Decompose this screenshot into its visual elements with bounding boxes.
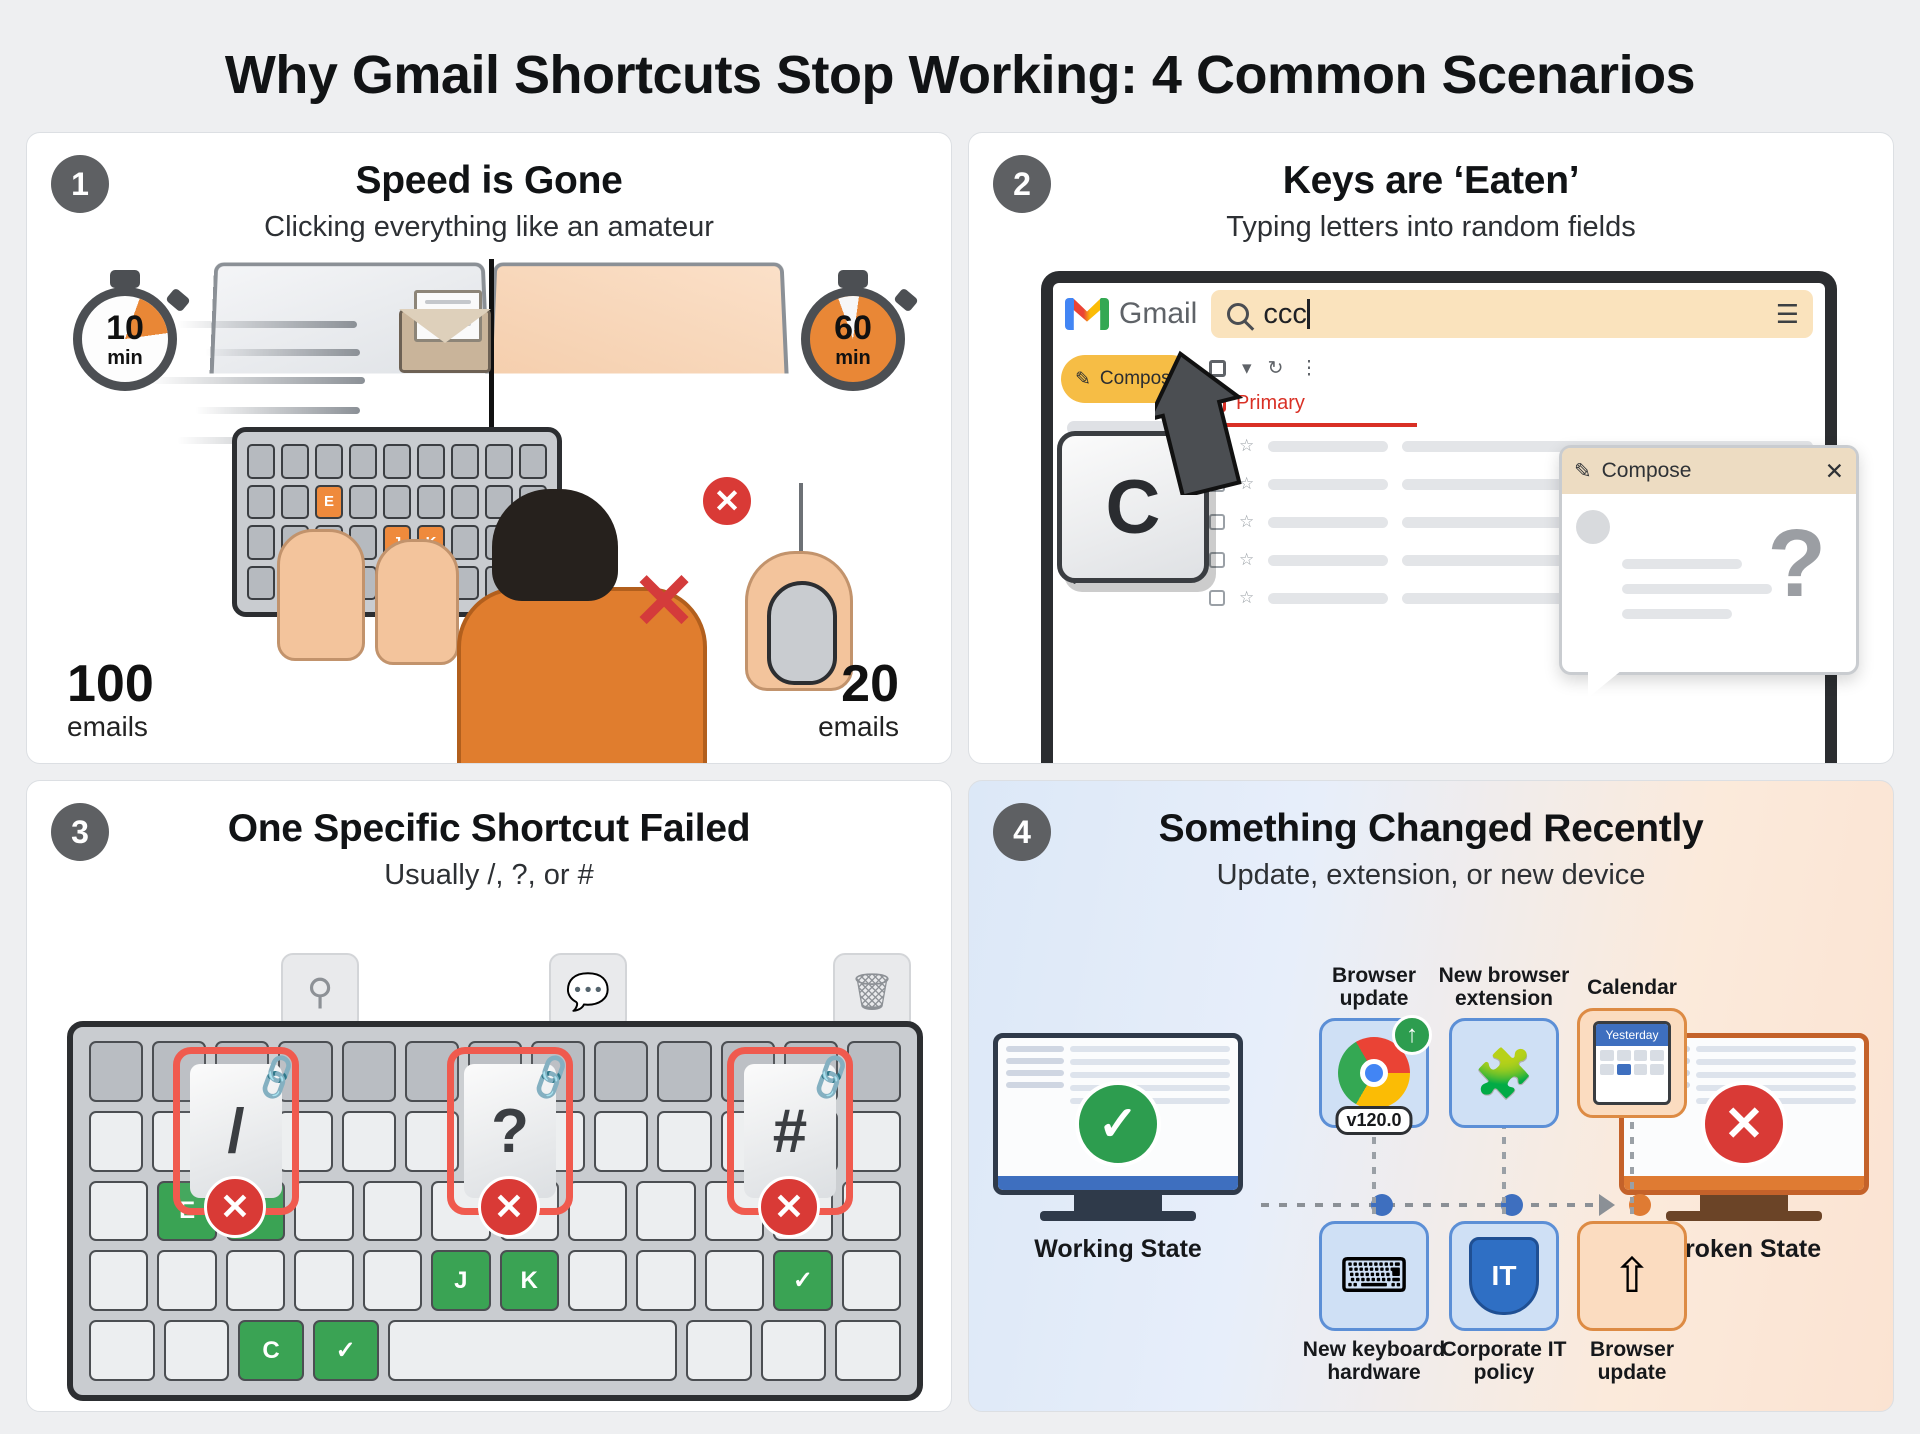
panel-3-subtitle: Usually /, ?, or # [47, 859, 931, 892]
key-blank [519, 444, 547, 479]
key [342, 1041, 396, 1102]
x-icon: ✕ [1701, 1081, 1787, 1167]
placeholder-line [1622, 584, 1772, 594]
panel-1-number: 1 [51, 155, 109, 213]
cause-browser-update-bottom: ⇧ Browser update [1559, 1213, 1705, 1384]
close-icon[interactable]: ✕ [1825, 458, 1844, 485]
search-icon: ⚲ [281, 953, 359, 1031]
key-blank [383, 444, 411, 479]
stat-unit: emails [818, 712, 899, 741]
failed-key-hash: # 🔗 ✕ [727, 1047, 853, 1215]
panel-one-shortcut-failed: 3 One Specific Shortcut Failed Usually /… [26, 780, 952, 1412]
cause-label: Browser update [1301, 965, 1447, 1010]
stopwatch-unit: min [835, 348, 871, 368]
key [89, 1320, 155, 1381]
stat-emails-fast: 100 emails [67, 657, 154, 741]
key-blank [247, 485, 275, 520]
key [657, 1041, 711, 1102]
key [636, 1181, 695, 1242]
keyboard-row: J K ✓ [89, 1250, 901, 1311]
calendar-grid [1596, 1046, 1668, 1079]
pencil-icon: ✎ [1075, 368, 1091, 391]
working-state-group: ✓ Working State [993, 1033, 1243, 1264]
panel-1-title: Speed is Gone [47, 159, 931, 203]
placeholder-line [1622, 609, 1732, 619]
stopwatch-value: 60 [834, 311, 872, 345]
gmail-topbar: Gmail ccc ☰ [1053, 283, 1825, 345]
key-blank [451, 444, 479, 479]
key-blank [451, 485, 479, 520]
monitor-accent-bar [1624, 1176, 1864, 1190]
version-badge: v120.0 [1335, 1106, 1412, 1135]
row-sender [1268, 555, 1388, 566]
error-badge-icon: ✕ [699, 473, 755, 529]
cause-new-keyboard: ⌨ New keyboard hardware [1301, 1213, 1447, 1384]
gmail-toolbar: ▾ ↻ ⋮ [1207, 351, 1815, 386]
panel-2-illustration: Gmail ccc ☰ ✎ [969, 259, 1893, 763]
cause-new-extension: New browser extension 🧩 [1431, 965, 1577, 1128]
compose-popup-body: ? [1562, 494, 1856, 635]
key-blank [247, 566, 275, 601]
key [636, 1250, 695, 1311]
row-checkbox[interactable] [1209, 590, 1225, 606]
panel-grid: 1 Speed is Gone Clicking everything like… [26, 132, 1894, 1412]
compose-popup-header: ✎ Compose ✕ [1562, 448, 1856, 494]
key-blank [281, 485, 309, 520]
key [89, 1250, 148, 1311]
gmail-search-field[interactable]: ccc ☰ [1211, 290, 1813, 338]
cause-browser-update-top: Browser update ↑ v120.0 [1301, 965, 1447, 1128]
panel-4-subtitle: Update, extension, or new device [989, 859, 1873, 892]
key-c-working: C [238, 1320, 304, 1381]
puzzle-icon: 🧩 [1449, 1018, 1559, 1128]
compose-popup-title: Compose [1602, 459, 1692, 483]
avatar [1576, 510, 1610, 544]
panel-speed-is-gone: 1 Speed is Gone Clicking everything like… [26, 132, 952, 764]
key [294, 1250, 353, 1311]
envelope-flap [399, 309, 491, 373]
trash-icon: 🗑 [833, 953, 911, 1031]
speed-line [205, 349, 360, 356]
cause-label: Calendar [1559, 977, 1705, 1000]
gmail-brand-label: Gmail [1119, 297, 1197, 331]
chrome-icon: ↑ v120.0 [1319, 1018, 1429, 1128]
person-head [492, 489, 618, 601]
key [594, 1041, 648, 1102]
failed-key-question: ? 🔗 ✕ [447, 1047, 573, 1215]
key [761, 1320, 827, 1381]
row-checkbox[interactable] [1209, 514, 1225, 530]
tune-icon[interactable]: ☰ [1776, 299, 1797, 330]
panel-4-number: 4 [993, 803, 1051, 861]
panel-keys-are-eaten: 2 Keys are ‘Eaten’ Typing letters into r… [968, 132, 1894, 764]
star-icon[interactable]: ☆ [1239, 512, 1254, 532]
stopwatch-60min: 60 min [801, 287, 905, 391]
star-icon[interactable]: ☆ [1239, 550, 1254, 570]
panel-4-title: Something Changed Recently [989, 807, 1873, 851]
stat-emails-slow: 20 emails [818, 657, 899, 741]
hand-left [277, 529, 365, 661]
gmail-logo: Gmail [1065, 297, 1197, 331]
keyboard-icon: ⌨ [1319, 1221, 1429, 1331]
panel-something-changed: 4 Something Changed Recently Update, ext… [968, 780, 1894, 1412]
stopwatch-10min: 10 min [73, 287, 177, 391]
working-state-label: Working State [993, 1235, 1243, 1264]
panel-1-subtitle: Clicking everything like an amateur [47, 211, 931, 244]
speech-tail [1588, 670, 1622, 698]
key-blank [417, 485, 445, 520]
flow-track [1261, 1203, 1601, 1207]
key [342, 1111, 396, 1172]
stat-value: 100 [67, 657, 154, 712]
key-blank [451, 525, 479, 560]
key-blank [349, 485, 377, 520]
panel-2-title: Keys are ‘Eaten’ [989, 159, 1873, 203]
key-blank [349, 444, 377, 479]
check-icon: ✓ [313, 1320, 379, 1381]
laptop-slow [488, 262, 788, 373]
shield-badge: IT [1469, 1237, 1539, 1315]
cause-it-policy: IT Corporate IT policy [1431, 1213, 1577, 1384]
cause-label: New browser extension [1431, 965, 1577, 1010]
screen-sidebar [1006, 1046, 1064, 1111]
x-icon: ✕ [478, 1176, 540, 1238]
row-checkbox[interactable] [1209, 552, 1225, 568]
question-mark-glyph: ? [1767, 516, 1826, 612]
star-icon[interactable]: ☆ [1239, 588, 1254, 608]
key [89, 1041, 143, 1102]
x-icon: ✕ [204, 1176, 266, 1238]
cause-calendar: Calendar Yesterday [1559, 977, 1705, 1118]
gmail-m-icon [1065, 298, 1109, 330]
panel-3-title: One Specific Shortcut Failed [47, 807, 931, 851]
compose-popup[interactable]: ✎ Compose ✕ ? [1559, 445, 1859, 675]
key [705, 1250, 764, 1311]
key [294, 1181, 353, 1242]
key-k-working: K [500, 1250, 559, 1311]
panel-3-header: One Specific Shortcut Failed Usually /, … [27, 781, 951, 892]
cause-label: Browser update [1559, 1339, 1705, 1384]
cause-label: Corporate IT policy [1431, 1339, 1577, 1384]
row-sender [1268, 517, 1388, 528]
check-icon: ✓ [1075, 1081, 1161, 1167]
key [657, 1111, 711, 1172]
key [847, 1041, 901, 1102]
key-blank [485, 444, 513, 479]
key-blank [315, 444, 343, 479]
key [363, 1181, 422, 1242]
arrow-up-icon: ↑ [1392, 1015, 1432, 1055]
calendar-widget: Yesterday [1593, 1021, 1671, 1105]
stat-unit: emails [67, 712, 154, 741]
row-sender [1268, 441, 1388, 452]
panel-2-number: 2 [993, 155, 1051, 213]
failed-key-slash: / 🔗 ✕ [173, 1047, 299, 1215]
monitor-stand [1700, 1195, 1788, 1211]
panel-2-subtitle: Typing letters into random fields [989, 211, 1873, 244]
key-blank [417, 444, 445, 479]
hand-right [375, 539, 459, 665]
check-icon: ✓ [773, 1250, 832, 1311]
infographic-root: Why Gmail Shortcuts Stop Working: 4 Comm… [0, 0, 1920, 1434]
key [594, 1111, 648, 1172]
key-j-working: J [431, 1250, 490, 1311]
browser-window-icon: ⇧ [1577, 1221, 1687, 1331]
panel-4-header: Something Changed Recently Update, exten… [969, 781, 1893, 892]
key [89, 1181, 148, 1242]
cause-label: New keyboard hardware [1301, 1339, 1447, 1384]
placeholder-line [1622, 559, 1742, 569]
stopwatch-value: 10 [106, 311, 144, 345]
panel-2-header: Keys are ‘Eaten’ Typing letters into ran… [969, 133, 1893, 244]
monitor-accent-bar [998, 1176, 1238, 1190]
envelope-icon [399, 309, 491, 373]
key [847, 1111, 901, 1172]
speed-line [195, 407, 360, 414]
key [568, 1181, 627, 1242]
panel-1-illustration: 10 min 60 min E [27, 251, 951, 763]
page-title: Why Gmail Shortcuts Stop Working: 4 Comm… [26, 44, 1894, 106]
key [226, 1250, 285, 1311]
arrow-up-icon [1155, 345, 1275, 495]
row-sender [1268, 593, 1388, 604]
more-vertical-icon[interactable]: ⋮ [1299, 357, 1318, 380]
speed-line [147, 377, 365, 384]
key [568, 1250, 627, 1311]
key [686, 1320, 752, 1381]
panel-3-number: 3 [51, 803, 109, 861]
panel-1-header: Speed is Gone Clicking everything like a… [27, 133, 951, 244]
key [89, 1111, 143, 1172]
connector [1630, 1107, 1634, 1203]
monitor-stand [1074, 1195, 1162, 1211]
keyboard-row: C ✓ [89, 1320, 901, 1381]
key-blank [281, 444, 309, 479]
x-icon: ✕ [758, 1176, 820, 1238]
monitor-base [1040, 1211, 1196, 1221]
key-e: E [315, 485, 343, 520]
panel-4-illustration: ✓ Working State ✕ Broken State [969, 921, 1893, 1411]
keyboard-disabled-x-icon: ✕ [627, 569, 701, 643]
help-icon: 💬 [549, 953, 627, 1031]
panel-3-illustration: ⚲ 💬 🗑 E ✓ [27, 931, 951, 1411]
key [835, 1320, 901, 1381]
speed-line [177, 321, 357, 328]
key-blank [383, 485, 411, 520]
calendar-header-label: Yesterday [1596, 1024, 1668, 1046]
key [363, 1250, 422, 1311]
stopwatch-unit: min [107, 348, 143, 368]
row-sender [1268, 479, 1388, 490]
key [164, 1320, 230, 1381]
key [842, 1250, 901, 1311]
search-input-value: ccc [1263, 298, 1310, 331]
key [157, 1250, 216, 1311]
text-caret [1307, 299, 1310, 329]
key-blank [247, 444, 275, 479]
key-space [388, 1320, 678, 1381]
search-icon [1227, 303, 1249, 325]
pencil-icon: ✎ [1574, 459, 1592, 484]
stat-value: 20 [818, 657, 899, 712]
calendar-icon: Yesterday [1577, 1008, 1687, 1118]
shield-icon: IT [1449, 1221, 1559, 1331]
key-blank [247, 525, 275, 560]
